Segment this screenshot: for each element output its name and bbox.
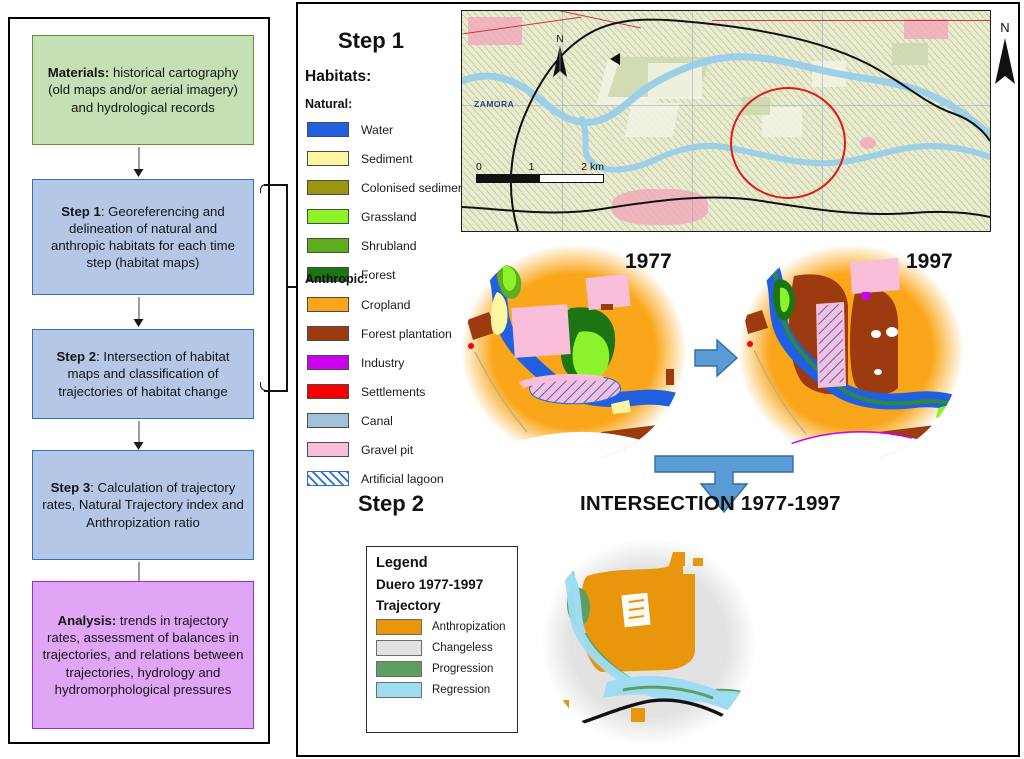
topographic-overview-map: ZAMORA N 0 1 2 km bbox=[461, 10, 991, 232]
legend-item-water: Water bbox=[307, 121, 393, 138]
legend-item-grassland: Grassland bbox=[307, 208, 417, 225]
swatch-regression bbox=[376, 682, 422, 698]
swatch-cropland bbox=[307, 297, 349, 312]
habitat-map-1977-features bbox=[453, 236, 713, 468]
flow-box-analysis: Analysis: trends in trajectory rates, as… bbox=[32, 581, 254, 729]
legend-item-industry: Industry bbox=[307, 354, 404, 371]
legend-label-changeless: Changeless bbox=[432, 642, 493, 654]
example-panel: Step 1 Habitats: Natural: Water Sediment… bbox=[296, 2, 1020, 757]
swatch-changeless bbox=[376, 640, 422, 656]
flow-box-step3-label: Step 3 bbox=[51, 480, 91, 495]
topo-scale-tick-1: 1 bbox=[529, 161, 535, 173]
river-duero bbox=[462, 11, 991, 232]
swatch-forest-plantation bbox=[307, 326, 349, 341]
legend-item-progression: Progression bbox=[376, 661, 508, 677]
intersection-heading: INTERSECTION 1977-1997 bbox=[580, 492, 841, 516]
legend-label-artificial-lagoon: Artificial lagoon bbox=[361, 472, 444, 486]
intersection-map bbox=[523, 532, 813, 754]
legend-label-regression: Regression bbox=[432, 684, 490, 696]
trajectory-legend-box: Legend Duero 1977-1997 Trajectory Anthro… bbox=[366, 546, 518, 733]
legend-label-progression: Progression bbox=[432, 663, 493, 675]
svg-text:N: N bbox=[1000, 20, 1009, 35]
swatch-shrubland bbox=[307, 238, 349, 253]
intersection-map-features bbox=[523, 532, 813, 754]
legend-label-settlements: Settlements bbox=[361, 385, 425, 399]
legend-label-sediment: Sediment bbox=[361, 152, 413, 166]
year-label-1977: 1977 bbox=[625, 250, 672, 274]
flow-box-materials: Materials: historical cartography (old m… bbox=[32, 35, 254, 145]
legend-label-shrubland: Shrubland bbox=[361, 239, 417, 253]
habitat-map-1997-features bbox=[728, 236, 998, 468]
legend-item-colonised-sediment: Colonised sediment bbox=[307, 179, 468, 196]
legend-item-anthropization: Anthropization bbox=[376, 619, 508, 635]
legend-item-changeless: Changeless bbox=[376, 640, 508, 656]
swatch-sediment bbox=[307, 151, 349, 166]
swatch-gravel-pit bbox=[307, 442, 349, 457]
legend-item-shrubland: Shrubland bbox=[307, 237, 417, 254]
anthropic-group-heading: Anthropic: bbox=[305, 272, 368, 286]
habitat-map-1977: 1977 bbox=[453, 236, 713, 468]
legend-label-grassland: Grassland bbox=[361, 210, 417, 224]
flow-arrow-3 bbox=[134, 421, 145, 450]
habitat-map-1997: 1997 bbox=[728, 236, 998, 468]
legend-label-cropland: Cropland bbox=[361, 298, 410, 312]
legend-label-industry: Industry bbox=[361, 356, 404, 370]
legend-subtitle: Duero 1977-1997 bbox=[376, 577, 508, 592]
swatch-canal bbox=[307, 413, 349, 428]
legend-label-colonised-sediment: Colonised sediment bbox=[361, 181, 468, 195]
legend-item-settlements: Settlements bbox=[307, 383, 425, 400]
flow-box-step1: Step 1: Georeferencing and delineation o… bbox=[32, 179, 254, 295]
topo-scale-tick-2: 2 km bbox=[581, 161, 604, 173]
legend-label-forest-plantation: Forest plantation bbox=[361, 327, 452, 341]
swatch-industry bbox=[307, 355, 349, 370]
legend-title: Legend bbox=[376, 555, 508, 571]
step2-heading: Step 2 bbox=[358, 491, 424, 517]
methodology-flowchart-panel: Materials: historical cartography (old m… bbox=[8, 17, 270, 744]
swatch-colonised-sediment bbox=[307, 180, 349, 195]
legend-item-sediment: Sediment bbox=[307, 150, 413, 167]
legend-item-gravel-pit: Gravel pit bbox=[307, 441, 413, 458]
flow-box-step3: Step 3: Calculation of trajectory rates,… bbox=[32, 450, 254, 560]
step1-heading: Step 1 bbox=[338, 28, 404, 54]
study-area-circle bbox=[730, 87, 846, 199]
topo-place-label-zamora: ZAMORA bbox=[474, 99, 514, 109]
habitats-heading: Habitats: bbox=[305, 68, 371, 86]
legend-label-canal: Canal bbox=[361, 414, 393, 428]
svg-text:N: N bbox=[556, 34, 563, 45]
legend-label-water: Water bbox=[361, 123, 393, 137]
flow-box-step1-label: Step 1 bbox=[61, 204, 101, 219]
swatch-progression bbox=[376, 661, 422, 677]
legend-label-gravel-pit: Gravel pit bbox=[361, 443, 413, 457]
legend-label-anthropization: Anthropization bbox=[432, 621, 506, 633]
legend-item-regression: Regression bbox=[376, 682, 508, 698]
legend-item-canal: Canal bbox=[307, 412, 393, 429]
flow-arrow-1 bbox=[134, 147, 145, 177]
flow-box-step2-label: Step 2 bbox=[57, 349, 97, 364]
legend-group-title: Trajectory bbox=[376, 598, 508, 613]
swatch-grassland bbox=[307, 209, 349, 224]
swatch-water bbox=[307, 122, 349, 137]
flow-box-analysis-label: Analysis: bbox=[58, 613, 117, 628]
topo-scale-tick-0: 0 bbox=[476, 161, 482, 173]
topo-scale-bar: 0 1 2 km bbox=[476, 161, 604, 183]
legend-item-forest-plantation: Forest plantation bbox=[307, 325, 452, 342]
flow-arrow-2 bbox=[134, 297, 145, 327]
swatch-anthropization bbox=[376, 619, 422, 635]
legend-item-artificial-lagoon: Artificial lagoon bbox=[307, 470, 444, 487]
legend-item-cropland: Cropland bbox=[307, 296, 410, 313]
natural-group-heading: Natural: bbox=[305, 97, 352, 111]
year-label-1997: 1997 bbox=[906, 250, 953, 274]
swatch-settlements bbox=[307, 384, 349, 399]
swatch-artificial-lagoon bbox=[307, 471, 349, 486]
flow-box-materials-label: Materials: bbox=[48, 65, 110, 80]
flow-box-step2: Step 2: Intersection of habitat maps and… bbox=[32, 329, 254, 419]
north-arrow-icon: N bbox=[992, 18, 1018, 88]
topo-north-arrow-icon: N bbox=[550, 31, 570, 79]
